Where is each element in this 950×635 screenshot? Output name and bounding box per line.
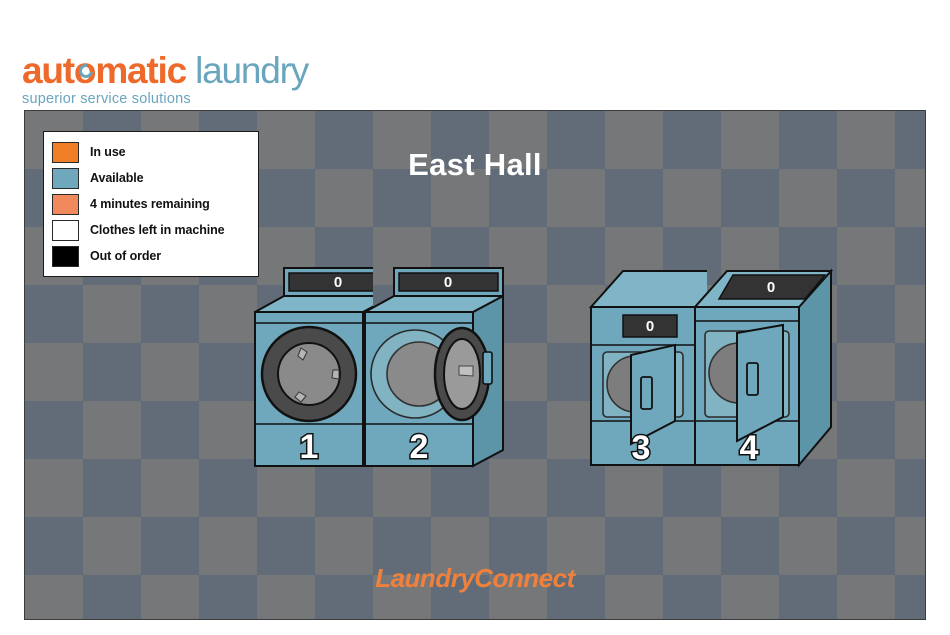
machine-2-display-value: 0	[444, 274, 452, 291]
legend-item-clothes-left: Clothes left in machine	[52, 217, 248, 243]
machine-4-number: 4	[740, 429, 759, 467]
machine-3[interactable]: 0 3	[587, 259, 707, 474]
laundry-room-view: automatic laundry superior service solut…	[0, 0, 950, 635]
logo-automatic-text: automatic	[22, 50, 186, 91]
legend-swatch-in-use	[52, 142, 79, 163]
logo-auto-prefix: aut	[22, 50, 74, 91]
legend-item-out-of-order: Out of order	[52, 243, 248, 269]
legend-panel: In use Available 4 minutes remaining Clo…	[43, 131, 259, 277]
legend-swatch-out-of-order	[52, 246, 79, 267]
machine-1-display-panel	[289, 273, 373, 291]
brand-logo: automatic laundry superior service solut…	[22, 52, 308, 107]
legend-label-available: Available	[90, 171, 144, 185]
legend-item-4-minutes-remaining: 4 minutes remaining	[52, 191, 248, 217]
legend-item-in-use: In use	[52, 139, 248, 165]
machine-1-graphic[interactable]: 0 1	[253, 266, 373, 471]
logo-auto-suffix: matic	[95, 50, 186, 91]
legend-label-4-minutes-remaining: 4 minutes remaining	[90, 197, 210, 211]
machine-1[interactable]: 0 1	[253, 266, 373, 471]
machine-2-door-handle	[483, 352, 492, 384]
machine-board: East Hall In use Available 4 minutes rem…	[24, 110, 926, 620]
machine-3-door-handle	[641, 377, 652, 409]
machine-2[interactable]: 0 2	[363, 266, 513, 471]
machine-2-number: 2	[410, 428, 429, 466]
machine-4-door-handle	[747, 363, 758, 395]
machine-3-graphic[interactable]: 0 3	[587, 259, 707, 474]
machine-1-drum	[278, 343, 340, 405]
legend-swatch-clothes-left	[52, 220, 79, 241]
logo-tagline: superior service solutions	[22, 92, 308, 107]
machine-4[interactable]: 0 4	[691, 259, 856, 474]
legend-label-out-of-order: Out of order	[90, 249, 161, 263]
machine-4-display-value: 0	[767, 279, 775, 296]
machine-3-number: 3	[632, 429, 651, 467]
legend-label-clothes-left: Clothes left in machine	[90, 223, 225, 237]
legend-swatch-4-minutes-remaining	[52, 194, 79, 215]
machine-2-graphic[interactable]: 0 2	[363, 266, 513, 471]
legend-label-in-use: In use	[90, 145, 126, 159]
machine-3-display-value: 0	[646, 318, 654, 335]
legend-swatch-available	[52, 168, 79, 189]
machine-1-display-value: 0	[334, 274, 342, 291]
machine-1-number: 1	[300, 428, 319, 466]
machine-4-graphic[interactable]: 0 4	[691, 259, 856, 474]
logo-laundry-text: laundry	[195, 50, 308, 91]
watermark-laundryconnect: LaundryConnect	[25, 563, 925, 594]
logo-o-glyph: o	[74, 52, 95, 89]
legend-item-available: Available	[52, 165, 248, 191]
logo-wordmark: automatic laundry	[22, 52, 308, 89]
